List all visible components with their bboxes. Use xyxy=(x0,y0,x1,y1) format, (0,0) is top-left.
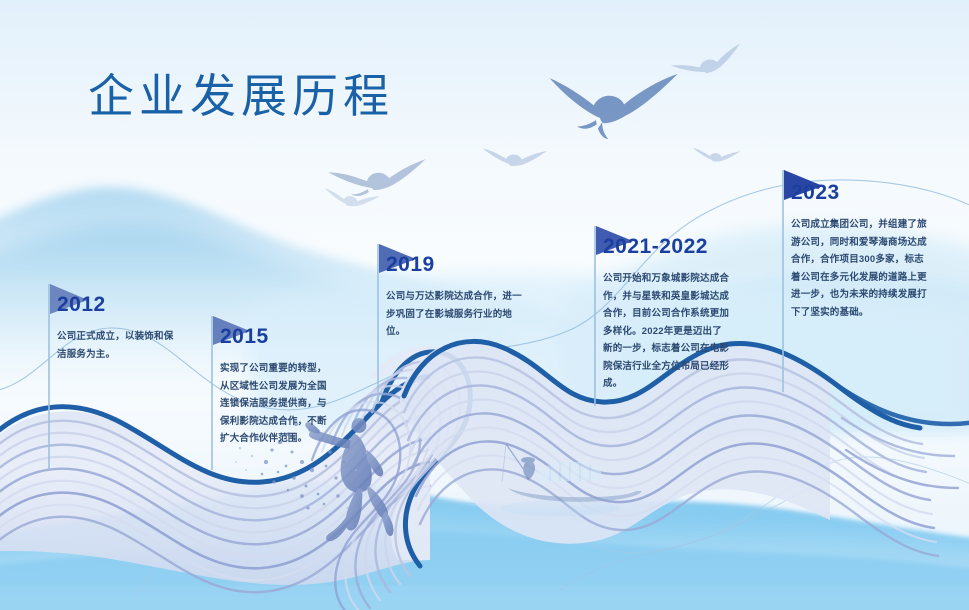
milestone-year: 2012 xyxy=(57,294,182,315)
milestone-2012[interactable]: 2012 公司正式成立，以装饰和保洁服务为主。 xyxy=(57,294,182,363)
milestone-description: 公司成立集团公司，并组建了旅游公司，同时和爱琴海商场达成合作，合作项目300多家… xyxy=(791,216,927,321)
milestone-year: 2019 xyxy=(386,254,521,275)
seagull-icon xyxy=(328,159,428,199)
page-title: 企业发展历程 xyxy=(88,60,394,126)
milestone-2023[interactable]: 2023 公司成立集团公司，并组建了旅游公司，同时和爱琴海商场达成合作，合作项目… xyxy=(791,182,926,321)
milestone-2019[interactable]: 2019 公司与万达影院达成合作，进一步巩固了在影城服务行业的地位。 xyxy=(386,254,521,341)
milestone-2021-2022[interactable]: 2021-2022 公司开始和万象城影院达成合作，并与星轶和英皇影城达成合作，目… xyxy=(603,236,731,393)
seagull-icon xyxy=(481,146,546,168)
milestone-description: 公司开始和万象城影院达成合作，并与星轶和英皇影城达成合作，目前公司合作系统更加多… xyxy=(603,270,731,393)
timeline-poster: 企业发展历程 2012 公司正式成立，以装饰和保洁服务为主。 2015 实现了公… xyxy=(0,0,969,610)
milestone-description: 实现了公司重要的转型，从区域性公司发展为全国连锁保洁服务提供商，与保利影院达成合… xyxy=(220,360,328,448)
seagull-icon xyxy=(322,186,380,210)
milestone-description: 公司正式成立，以装饰和保洁服务为主。 xyxy=(57,328,181,363)
milestone-description: 公司与万达影院达成合作，进一步巩固了在影城服务行业的地位。 xyxy=(386,288,523,341)
milestone-year: 2021-2022 xyxy=(603,236,731,257)
milestone-year: 2015 xyxy=(220,326,332,347)
milestone-2015[interactable]: 2015 实现了公司重要的转型，从区域性公司发展为全国连锁保洁服务提供商，与保利… xyxy=(220,326,332,448)
seagull-icon xyxy=(692,146,741,164)
milestone-year: 2023 xyxy=(791,182,926,203)
seagull-icon xyxy=(550,74,678,139)
seagull-icon xyxy=(670,44,745,83)
